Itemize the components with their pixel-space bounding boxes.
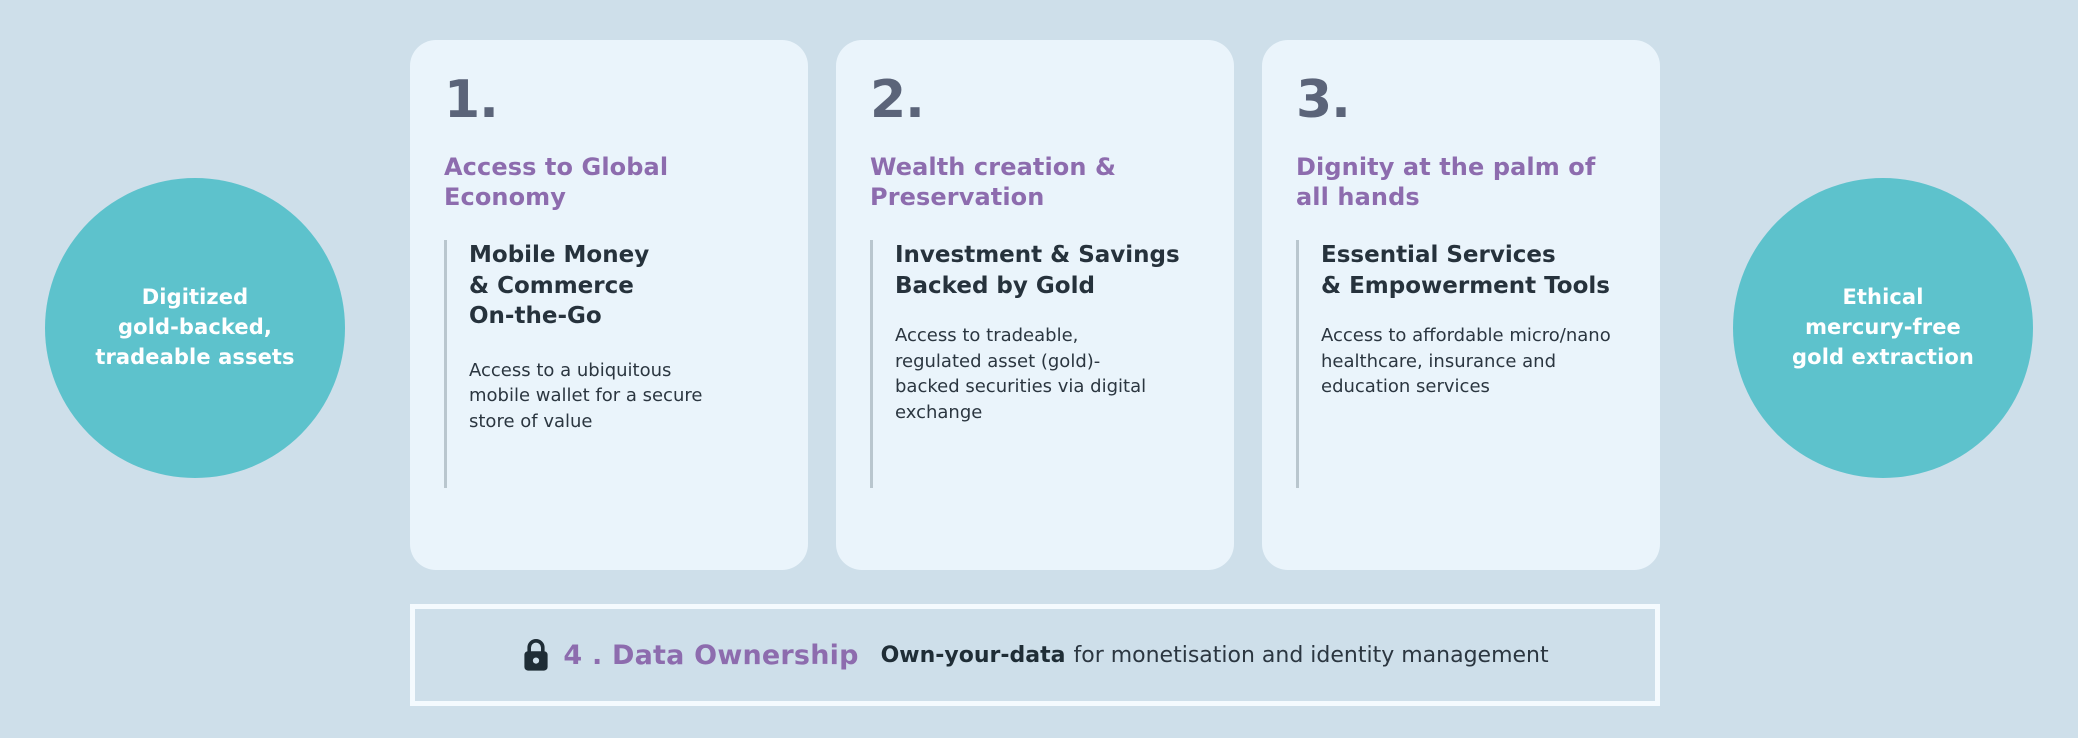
card-1-number: 1. bbox=[444, 74, 774, 126]
banner-content: 4 . Data Ownership Own-your-data for mon… bbox=[521, 638, 1548, 672]
card-3-detail-body: Access to affordable micro/nano healthca… bbox=[1321, 323, 1626, 400]
card-1-detail-heading: Mobile Money & Commerce On-the-Go bbox=[469, 240, 774, 331]
card-1-detail-body: Access to a ubiquitous mobile wallet for… bbox=[469, 358, 774, 435]
card-2-detail-heading: Investment & Savings Backed by Gold bbox=[895, 240, 1200, 301]
card-2-title: Wealth creation & Preservation bbox=[870, 152, 1200, 212]
banner-label: 4 . Data Ownership bbox=[563, 640, 858, 671]
lock-icon bbox=[521, 638, 551, 672]
card-3-detail-block: Essential Services & Empowerment Tools A… bbox=[1296, 240, 1626, 488]
left-circle-badge: Digitized gold-backed, tradeable assets bbox=[45, 178, 345, 478]
banner-strong-text: Own-your-data bbox=[881, 643, 1066, 668]
value-card-2[interactable]: 2. Wealth creation & Preservation Invest… bbox=[836, 40, 1234, 570]
right-circle-label: Ethical mercury-free gold extraction bbox=[1774, 283, 1992, 372]
value-card-1[interactable]: 1. Access to Global Economy Mobile Money… bbox=[410, 40, 808, 570]
card-1-detail-block: Mobile Money & Commerce On-the-Go Access… bbox=[444, 240, 774, 488]
card-1-title: Access to Global Economy bbox=[444, 152, 774, 212]
card-3-title: Dignity at the palm of all hands bbox=[1296, 152, 1626, 212]
infographic-canvas: Digitized gold-backed, tradeable assets … bbox=[0, 0, 2078, 738]
data-ownership-banner[interactable]: 4 . Data Ownership Own-your-data for mon… bbox=[410, 604, 1660, 706]
card-2-detail-body: Access to tradeable, regulated asset (go… bbox=[895, 323, 1200, 425]
card-2-detail-block: Investment & Savings Backed by Gold Acce… bbox=[870, 240, 1200, 488]
card-3-number: 3. bbox=[1296, 74, 1626, 126]
value-card-3[interactable]: 3. Dignity at the palm of all hands Esse… bbox=[1262, 40, 1660, 570]
left-circle-label: Digitized gold-backed, tradeable assets bbox=[77, 283, 312, 372]
banner-rest-text: for monetisation and identity management bbox=[1073, 643, 1548, 668]
card-2-number: 2. bbox=[870, 74, 1200, 126]
card-3-detail-heading: Essential Services & Empowerment Tools bbox=[1321, 240, 1626, 301]
right-circle-badge: Ethical mercury-free gold extraction bbox=[1733, 178, 2033, 478]
